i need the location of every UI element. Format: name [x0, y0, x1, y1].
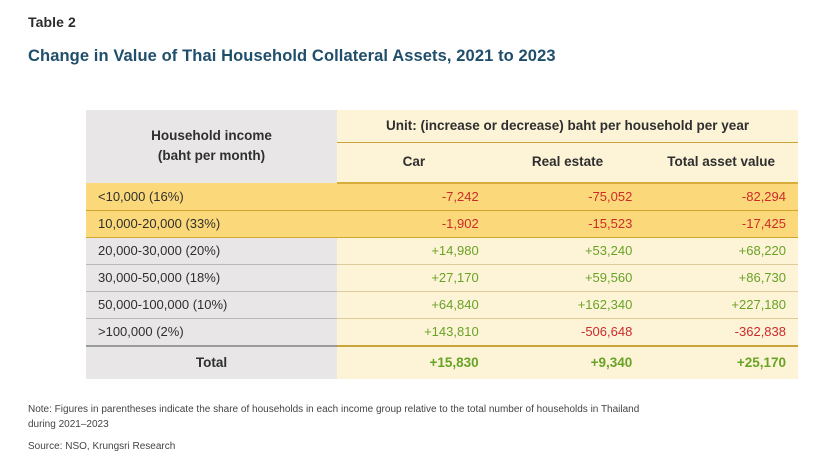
table-container: Household income (baht per month) Unit: … — [86, 110, 798, 379]
header-household-income-line2: (baht per month) — [92, 146, 331, 166]
table-source: Source: NSO, Krungsri Research — [28, 441, 175, 452]
table-row: 30,000-50,000 (18%) +27,170 +59,560 +86,… — [86, 264, 798, 291]
cell-real-estate: +162,340 — [491, 291, 645, 318]
row-label: 30,000-50,000 (18%) — [86, 264, 337, 291]
header-col-total-asset-value: Total asset value — [644, 142, 798, 183]
header-household-income: Household income (baht per month) — [86, 110, 337, 183]
cell-total-asset-value: +86,730 — [644, 264, 798, 291]
header-col-car: Car — [337, 142, 491, 183]
cell-real-estate: +59,560 — [491, 264, 645, 291]
cell-total-asset-value: -17,425 — [644, 210, 798, 237]
table-row: 20,000-30,000 (20%) +14,980 +53,240 +68,… — [86, 237, 798, 264]
table-header-row-top: Household income (baht per month) Unit: … — [86, 110, 798, 142]
cell-total-asset-value: +68,220 — [644, 237, 798, 264]
cell-real-estate: +53,240 — [491, 237, 645, 264]
cell-car: +64,840 — [337, 291, 491, 318]
cell-real-estate: -506,648 — [491, 318, 645, 346]
table-row: 50,000-100,000 (10%) +64,840 +162,340 +2… — [86, 291, 798, 318]
cell-total-asset-value: +227,180 — [644, 291, 798, 318]
cell-total-asset-value: -82,294 — [644, 183, 798, 211]
header-household-income-line1: Household income — [92, 126, 331, 146]
row-label: >100,000 (2%) — [86, 318, 337, 346]
total-row-label: Total — [86, 346, 337, 379]
table-row: 10,000-20,000 (33%) -1,902 -15,523 -17,4… — [86, 210, 798, 237]
table-body: <10,000 (16%) -7,242 -75,052 -82,294 10,… — [86, 183, 798, 379]
table-row: <10,000 (16%) -7,242 -75,052 -82,294 — [86, 183, 798, 211]
cell-car: -1,902 — [337, 210, 491, 237]
total-cell-car: +15,830 — [337, 346, 491, 379]
table-header: Household income (baht per month) Unit: … — [86, 110, 798, 183]
cell-car: +14,980 — [337, 237, 491, 264]
table-total-row: Total +15,830 +9,340 +25,170 — [86, 346, 798, 379]
cell-total-asset-value: -362,838 — [644, 318, 798, 346]
page-title: Change in Value of Thai Household Collat… — [28, 47, 556, 66]
cell-car: +27,170 — [337, 264, 491, 291]
header-unit-label: Unit: (increase or decrease) baht per ho… — [337, 110, 798, 142]
cell-real-estate: -15,523 — [491, 210, 645, 237]
row-label: <10,000 (16%) — [86, 183, 337, 211]
table-row: >100,000 (2%) +143,810 -506,648 -362,838 — [86, 318, 798, 346]
cell-real-estate: -75,052 — [491, 183, 645, 211]
row-label: 50,000-100,000 (10%) — [86, 291, 337, 318]
total-cell-real-estate: +9,340 — [491, 346, 645, 379]
row-label: 20,000-30,000 (20%) — [86, 237, 337, 264]
collateral-assets-table: Household income (baht per month) Unit: … — [86, 110, 798, 379]
header-col-real-estate: Real estate — [491, 142, 645, 183]
table-label: Table 2 — [28, 14, 76, 30]
table-note: Note: Figures in parentheses indicate th… — [28, 403, 668, 432]
cell-car: +143,810 — [337, 318, 491, 346]
row-label: 10,000-20,000 (33%) — [86, 210, 337, 237]
cell-car: -7,242 — [337, 183, 491, 211]
total-cell-total-asset-value: +25,170 — [644, 346, 798, 379]
